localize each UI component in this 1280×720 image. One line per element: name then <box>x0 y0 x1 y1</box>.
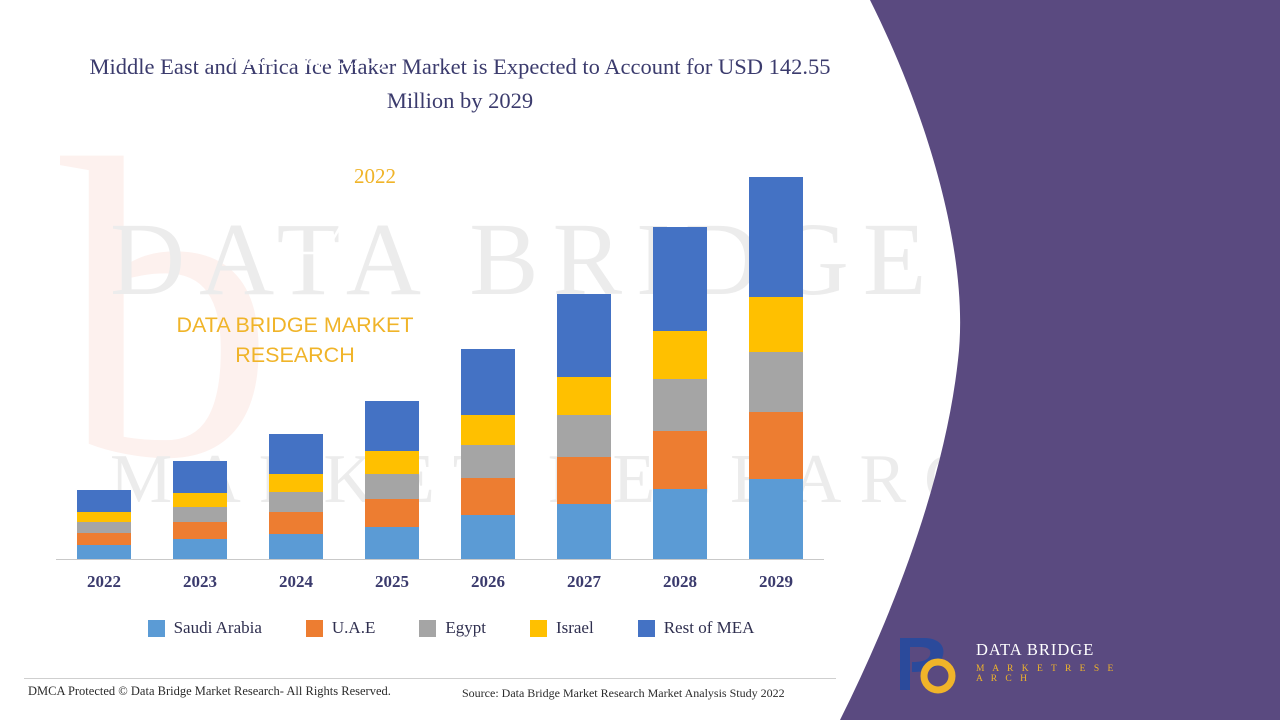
bar-segment <box>461 349 515 415</box>
bar-segment <box>77 522 131 533</box>
bar-segment <box>557 377 611 415</box>
x-tick-label: 2022 <box>56 572 152 596</box>
legend-item[interactable]: Saudi Arabia <box>148 618 262 638</box>
legend-swatch <box>638 620 655 637</box>
bar-segment <box>461 445 515 478</box>
legend-label: Saudi Arabia <box>174 618 262 638</box>
bar-segment <box>269 474 323 492</box>
bar-segment <box>557 415 611 457</box>
bar-segment <box>653 489 707 559</box>
logo-ring-shape <box>924 662 952 690</box>
bar-segment <box>653 431 707 489</box>
bar-segment <box>269 492 323 512</box>
bar-segment <box>173 493 227 507</box>
bar-segment <box>365 401 419 451</box>
bar-segment <box>749 177 803 297</box>
x-axis-line <box>56 559 824 560</box>
bar-segment <box>269 434 323 474</box>
legend-label: Egypt <box>445 618 486 638</box>
bar-segment <box>173 507 227 522</box>
bar-segment <box>653 331 707 379</box>
legend-item[interactable]: Egypt <box>419 618 486 638</box>
bar-column <box>440 159 536 559</box>
right-side-panel <box>840 0 1280 720</box>
bar-segment <box>365 474 419 499</box>
bar-segment <box>461 415 515 445</box>
x-tick-label: 2028 <box>632 572 728 596</box>
x-tick-label: 2023 <box>152 572 248 596</box>
bar-segment <box>557 457 611 504</box>
hexagon-left-label: 2029 <box>279 199 321 223</box>
bar-segment <box>77 512 131 522</box>
x-tick-label: 2024 <box>248 572 344 596</box>
bar-column <box>728 159 824 559</box>
bar-segment <box>365 499 419 527</box>
x-tick-label: 2025 <box>344 572 440 596</box>
panel-title: Middle East and Africa Ice Maker Market,… <box>190 14 430 104</box>
bar-segment <box>557 504 611 559</box>
footer-copyright: DMCA Protected © Data Bridge Market Rese… <box>28 684 391 699</box>
legend-swatch <box>419 620 436 637</box>
company-logo: DATA BRIDGE M A R K E T R E S E A R C H <box>890 632 1120 702</box>
hexagon-badges: 2029 2022 <box>240 130 440 290</box>
bar-segment <box>461 515 515 559</box>
bar-segment <box>749 352 803 412</box>
legend-label: Israel <box>556 618 594 638</box>
bar-segment <box>749 479 803 559</box>
x-axis-tick-labels: 20222023202420252026202720282029 <box>56 572 824 596</box>
bar-column <box>56 159 152 559</box>
bar-segment <box>173 522 227 539</box>
legend-label: Rest of MEA <box>664 618 755 638</box>
x-tick-label: 2027 <box>536 572 632 596</box>
bar-segment <box>77 545 131 559</box>
x-tick-label: 2026 <box>440 572 536 596</box>
bar-segment <box>269 512 323 534</box>
bar-segment <box>461 478 515 515</box>
bar-segment <box>173 539 227 559</box>
chart-title: Middle East and Africa Ice Maker Market … <box>60 50 860 118</box>
footer-divider <box>24 678 836 679</box>
legend-swatch <box>306 620 323 637</box>
legend-item[interactable]: Rest of MEA <box>638 618 755 638</box>
bar-segment <box>365 527 419 559</box>
brand-name: DATA BRIDGE MARKET RESEARCH <box>160 310 430 370</box>
bar-segment <box>653 227 707 331</box>
slide-root: b DATA BRIDGE MARKET RESEARCH Middle Eas… <box>0 0 1280 720</box>
bar-segment <box>173 461 227 493</box>
bar-segment <box>365 451 419 474</box>
bar-segment <box>77 490 131 512</box>
bar-column <box>536 159 632 559</box>
legend-label: U.A.E <box>332 618 375 638</box>
bar-column <box>632 159 728 559</box>
bar-segment <box>269 534 323 559</box>
footer-source: Source: Data Bridge Market Research Mark… <box>462 686 785 701</box>
legend-swatch <box>148 620 165 637</box>
bar-segment <box>77 533 131 545</box>
chart-legend: Saudi ArabiaU.A.EEgyptIsraelRest of MEA <box>56 612 846 644</box>
bar-segment <box>653 379 707 431</box>
legend-item[interactable]: U.A.E <box>306 618 375 638</box>
x-tick-label: 2029 <box>728 572 824 596</box>
bar-segment <box>749 412 803 479</box>
legend-item[interactable]: Israel <box>530 618 594 638</box>
hexagon-right-label: 2022 <box>354 164 396 188</box>
logo-name: DATA BRIDGE <box>976 640 1094 660</box>
bar-segment <box>557 294 611 377</box>
legend-swatch <box>530 620 547 637</box>
logo-subtitle: M A R K E T R E S E A R C H <box>976 664 1120 684</box>
bar-segment <box>749 297 803 352</box>
